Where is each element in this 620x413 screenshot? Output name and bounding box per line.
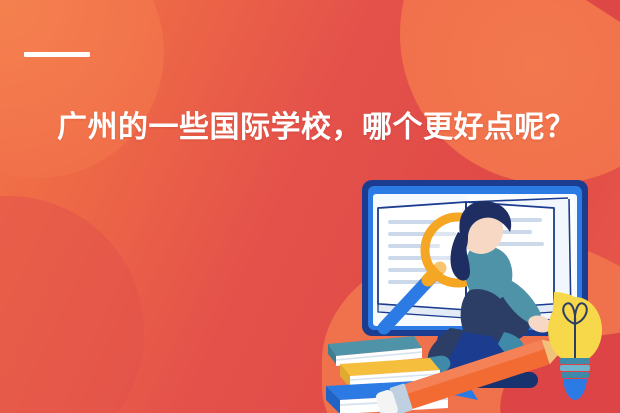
title-underline — [24, 52, 90, 57]
lightbulb-icon — [548, 292, 602, 400]
poster-canvas: 广州的一些国际学校，哪个更好点呢？ — [0, 0, 620, 413]
online-learning-illustration — [318, 172, 620, 413]
page-title: 广州的一些国际学校，哪个更好点呢？ — [57, 100, 577, 155]
